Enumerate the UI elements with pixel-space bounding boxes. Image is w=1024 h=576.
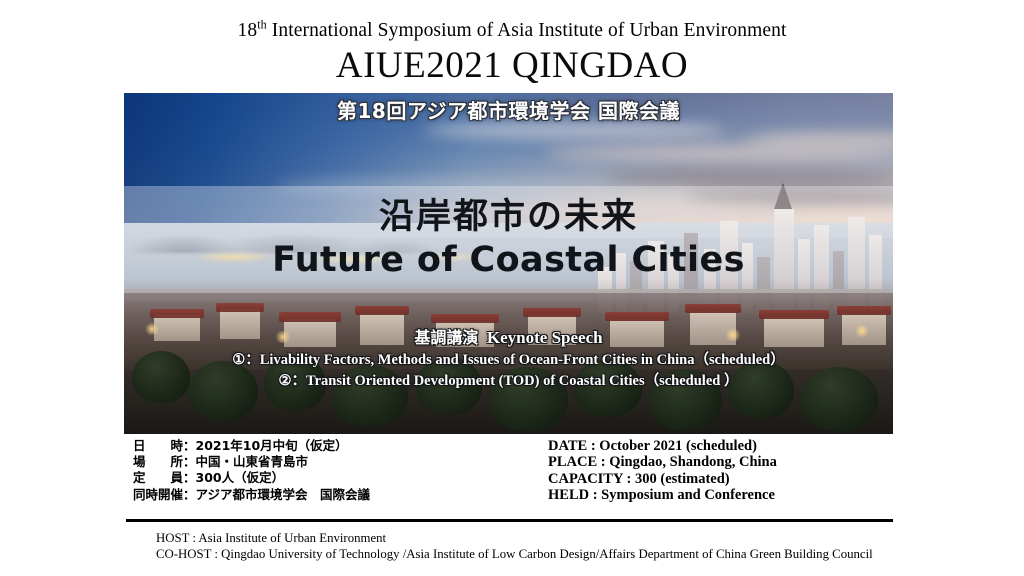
theme-title-english: Future of Coastal Cities [124, 239, 893, 281]
detail-held-jp: 同時開催：アジア都市環境学会 国際会議 [133, 487, 370, 503]
keynote-section: 基調講演 Keynote Speech ①：Livability Factors… [124, 327, 893, 392]
detail-place-jp: 場 所：中国・山東省青島市 [133, 454, 370, 470]
page-title: AIUE2021 QINGDAO [0, 47, 1024, 86]
footer-divider [126, 519, 893, 522]
red-roof [355, 306, 409, 315]
detail-held-en: HELD : Symposium and Conference [548, 487, 777, 503]
red-roof [685, 304, 741, 313]
footer-credits: HOST : Asia Institute of Urban Environme… [156, 531, 873, 562]
poster-header: 18th International Symposium of Asia Ins… [0, 20, 1024, 86]
symposium-title-rest: International Symposium of Asia Institut… [267, 20, 787, 41]
keynote-heading: 基調講演 Keynote Speech [124, 327, 893, 350]
symposium-ordinal-suffix: th [257, 18, 267, 32]
red-roof [431, 314, 499, 323]
theme-title: 沿岸都市の未来 Future of Coastal Cities [124, 196, 893, 281]
detail-date-en: DATE : October 2021 (scheduled) [548, 438, 777, 454]
keynote-item: ②：Transit Oriented Development (TOD) of … [124, 371, 893, 392]
symposium-line: 18th International Symposium of Asia Ins… [0, 20, 1024, 41]
detail-date-jp: 日 時：2021年10月中旬（仮定） [133, 438, 370, 454]
detail-capacity-jp: 定 員：300人（仮定） [133, 470, 370, 486]
event-details-english: DATE : October 2021 (scheduled) PLACE : … [548, 438, 777, 504]
keynote-heading-english: Keynote Speech [487, 328, 603, 347]
co-host-line: CO-HOST : Qingdao University of Technolo… [156, 547, 873, 563]
detail-place-en: PLACE : Qingdao, Shandong, China [548, 454, 777, 470]
red-roof [150, 309, 204, 318]
red-roof [523, 308, 581, 317]
red-roof [605, 312, 669, 321]
host-line: HOST : Asia Institute of Urban Environme… [156, 531, 873, 547]
red-roof [279, 312, 341, 322]
conference-photo: 第18回アジア都市環境学会 国際会議 沿岸都市の未来 Future of Coa… [124, 93, 893, 434]
red-roof [216, 303, 264, 312]
keynote-item: ①：Livability Factors, Methods and Issues… [124, 350, 893, 371]
symposium-number: 18 [237, 20, 257, 41]
red-roof [759, 310, 829, 319]
theme-title-japanese: 沿岸都市の未来 [124, 196, 893, 239]
detail-capacity-en: CAPACITY : 300 (estimated) [548, 471, 777, 487]
japanese-subtitle: 第18回アジア都市環境学会 国際会議 [124, 95, 893, 124]
red-roof [837, 306, 891, 315]
keynote-heading-japanese: 基調講演 [414, 328, 478, 347]
event-details-japanese: 日 時：2021年10月中旬（仮定） 場 所：中国・山東省青島市 定 員：300… [133, 438, 370, 503]
